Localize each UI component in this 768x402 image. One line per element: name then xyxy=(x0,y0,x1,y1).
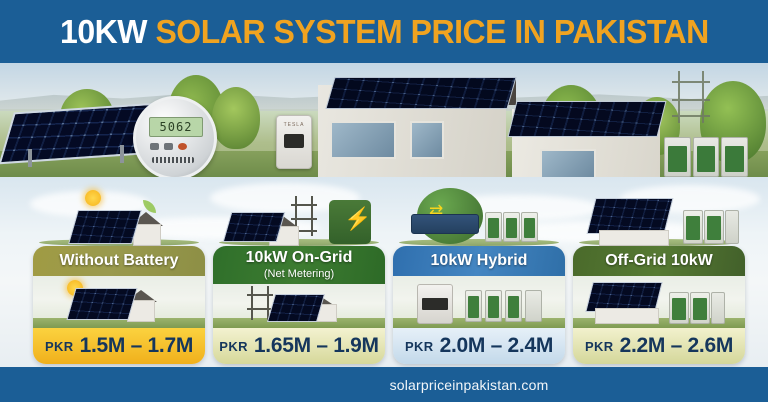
card-header: 10kW On-Grid (Net Metering) xyxy=(213,246,385,284)
battery-unit-icon xyxy=(521,212,538,242)
meter-button xyxy=(178,143,187,150)
header-banner: 10KW SOLAR SYSTEM PRICE IN PAKISTAN xyxy=(0,0,768,63)
card-title: Off-Grid 10kW xyxy=(605,253,713,270)
inverter-icon xyxy=(411,214,479,234)
hero-scene: TESLA 5062 xyxy=(0,63,768,177)
meter-display: 5062 xyxy=(149,117,203,137)
price-range: 2.0M – 2.4M xyxy=(440,334,553,358)
page-title: 10KW SOLAR SYSTEM PRICE IN PAKISTAN xyxy=(60,15,709,48)
battery-unit-icon xyxy=(725,210,739,244)
card-subtitle: (Net Metering) xyxy=(264,268,334,280)
battery-unit-icon xyxy=(704,210,724,244)
battery-unit xyxy=(664,137,691,177)
house-icon xyxy=(133,224,161,246)
price-currency: PKR xyxy=(219,339,248,354)
price-card-hybrid[interactable]: 10kW Hybrid PKR 2.0M – 2.4M xyxy=(393,246,565,364)
rooftop-solar-panels xyxy=(325,77,516,109)
tree-icon xyxy=(212,87,260,149)
price-range: 1.65M – 1.9M xyxy=(254,334,379,358)
illus-without-battery xyxy=(33,186,205,248)
illus-on-grid: ⚡ xyxy=(213,186,385,248)
price-range: 1.5M – 1.7M xyxy=(80,334,193,358)
battery-unit-icon xyxy=(525,290,542,322)
website-url[interactable]: solarpriceinpakistan.com xyxy=(390,377,549,393)
illus-hybrid: ⇄ xyxy=(393,186,565,248)
card-price-bar: PKR 2.2M – 2.6M xyxy=(573,328,745,364)
meter-button xyxy=(150,143,159,150)
electricity-meter: 5062 xyxy=(133,96,217,177)
card-price-bar: PKR 1.5M – 1.7M xyxy=(33,328,205,364)
house-window xyxy=(330,121,396,159)
price-cards: Without Battery PKR 1.5M – 1.7M 10kW On-… xyxy=(0,246,768,368)
battery-unit-icon xyxy=(669,292,689,324)
price-card-off-grid[interactable]: Off-Grid 10kW PKR 2.2M – 2.6M xyxy=(573,246,745,364)
array-support xyxy=(28,149,32,167)
title-rest: SOLAR SYSTEM PRICE IN PAKISTAN xyxy=(155,13,708,50)
meter-barcode xyxy=(152,157,194,163)
secondary-solar-panels xyxy=(508,101,667,137)
battery-unit xyxy=(693,137,720,177)
leaf-icon xyxy=(143,200,156,213)
battery-unit-icon xyxy=(503,212,520,242)
battery-unit-icon xyxy=(711,292,725,324)
battery-unit-icon xyxy=(690,292,710,324)
solar-panel-icon xyxy=(267,294,325,322)
solar-panel-icon xyxy=(66,288,137,320)
card-header: Without Battery xyxy=(33,246,205,276)
price-card-on-grid[interactable]: 10kW On-Grid (Net Metering) PKR 1.65M – … xyxy=(213,246,385,364)
transmission-tower-icon xyxy=(672,71,710,123)
card-header: 10kW Hybrid xyxy=(393,246,565,276)
price-card-without-battery[interactable]: Without Battery PKR 1.5M – 1.7M xyxy=(33,246,205,364)
building-icon xyxy=(595,308,659,324)
battery-unit-icon xyxy=(505,290,522,322)
battery-unit-icon xyxy=(683,210,703,244)
price-currency: PKR xyxy=(585,339,614,354)
tesla-inverter-icon xyxy=(417,284,453,324)
battery-unit xyxy=(721,137,748,177)
price-currency: PKR xyxy=(45,339,74,354)
inverter-brand-label: TESLA xyxy=(277,122,311,128)
card-title: 10kW Hybrid xyxy=(431,253,528,270)
tesla-inverter: TESLA xyxy=(276,115,312,169)
solar-panel-icon xyxy=(223,212,286,242)
lightning-bolt-icon: ⚡ xyxy=(344,208,371,230)
card-price-bar: PKR 2.0M – 2.4M xyxy=(393,328,565,364)
price-currency: PKR xyxy=(405,339,434,354)
card-illustration xyxy=(33,276,205,328)
house-window xyxy=(410,121,444,159)
inverter-screen xyxy=(284,134,304,148)
sun-icon xyxy=(85,190,101,206)
card-illustration xyxy=(393,276,565,328)
solar-array-icon xyxy=(587,198,674,234)
battery-unit-icon xyxy=(465,290,482,322)
illustration-row: ⚡ ⇄ xyxy=(0,186,768,248)
footer-bar: solarpriceinpakistan.com xyxy=(0,367,768,402)
price-range: 2.2M – 2.6M xyxy=(620,334,733,358)
card-price-bar: PKR 1.65M – 1.9M xyxy=(213,328,385,364)
title-highlight: 10KW xyxy=(60,13,147,50)
battery-bank xyxy=(664,137,748,177)
building-icon xyxy=(599,230,669,246)
solar-panel-icon xyxy=(68,210,142,244)
card-title: 10kW On-Grid xyxy=(246,250,353,267)
meter-button xyxy=(164,143,173,150)
battery-unit-icon xyxy=(485,290,502,322)
illus-off-grid xyxy=(573,186,745,248)
card-illustration xyxy=(573,276,745,328)
solar-price-infographic: 10KW SOLAR SYSTEM PRICE IN PAKISTAN TESL… xyxy=(0,0,768,402)
card-header: Off-Grid 10kW xyxy=(573,246,745,276)
battery-unit-icon xyxy=(485,212,502,242)
card-illustration xyxy=(213,284,385,328)
array-support xyxy=(120,145,124,163)
card-title: Without Battery xyxy=(60,253,179,270)
building-window xyxy=(540,149,596,177)
